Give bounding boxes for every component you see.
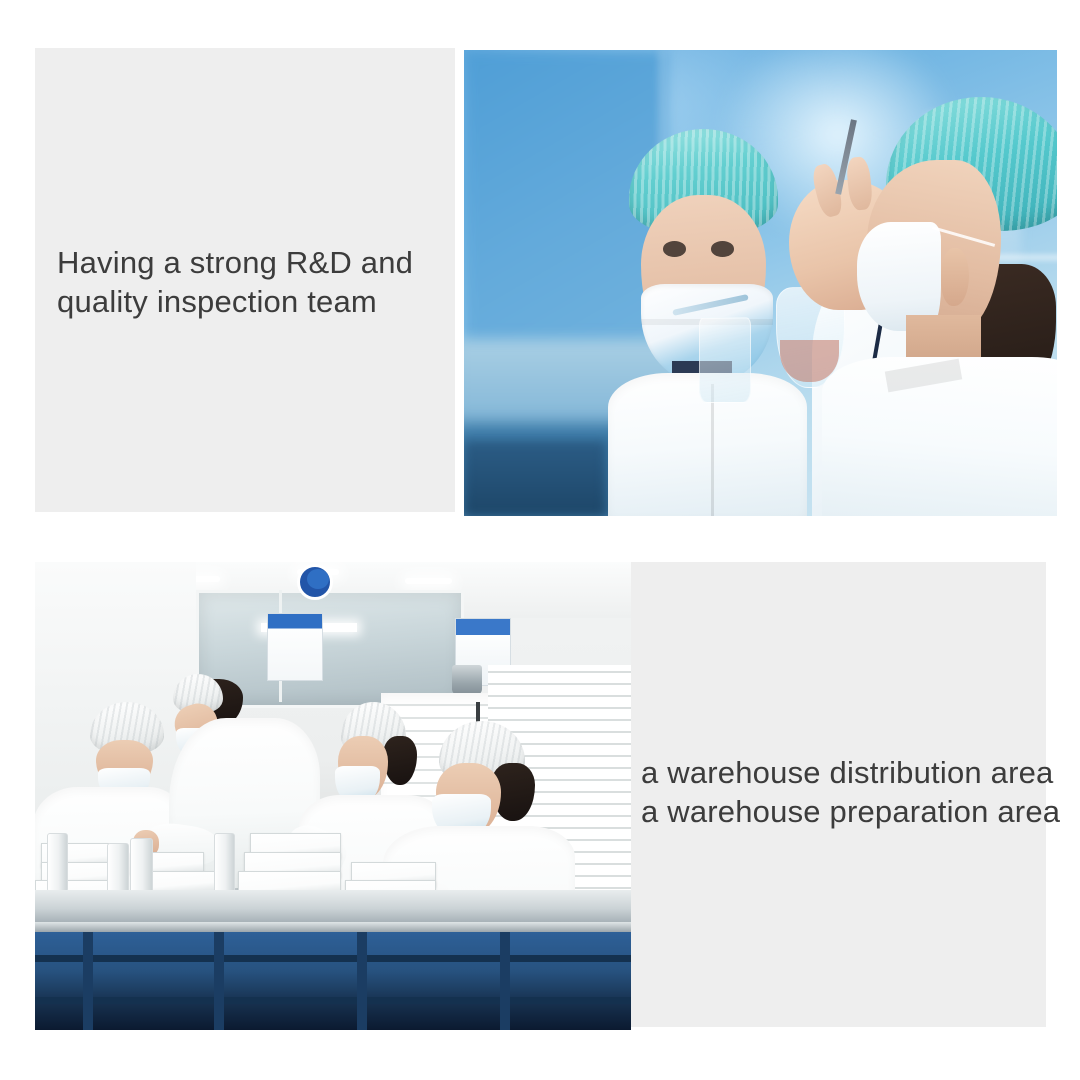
lab-machine <box>464 441 606 516</box>
rnd-quality-caption: Having a strong R&D and quality inspecti… <box>57 243 447 321</box>
product-tube <box>214 833 235 896</box>
table-leg <box>214 932 224 1030</box>
product-tube <box>47 833 68 891</box>
ceiling-light <box>405 578 453 584</box>
lab-technician-profile <box>832 97 1057 516</box>
blue-round-sign-inner <box>307 569 329 589</box>
warehouse-caption: a warehouse distribution area a warehous… <box>641 753 1041 831</box>
technician-eye <box>711 241 734 256</box>
table-rail <box>35 955 631 962</box>
warehouse-packaging-photo <box>35 562 631 1030</box>
technician-eye <box>663 241 686 256</box>
poster-canvas: Having a strong R&D and quality inspecti… <box>0 0 1080 1080</box>
lab-coat-lapel <box>711 384 714 516</box>
table-leg <box>357 932 367 1030</box>
laboratory-inspection-photo <box>464 50 1057 516</box>
table-frame <box>35 932 631 1030</box>
table-leg <box>83 932 93 1030</box>
table-leg <box>500 932 510 1030</box>
glass-beaker <box>699 317 751 403</box>
technician-ear <box>941 248 968 307</box>
wall-notice-board <box>267 613 323 681</box>
stainless-pot <box>452 665 482 695</box>
table-rail <box>35 997 631 1004</box>
